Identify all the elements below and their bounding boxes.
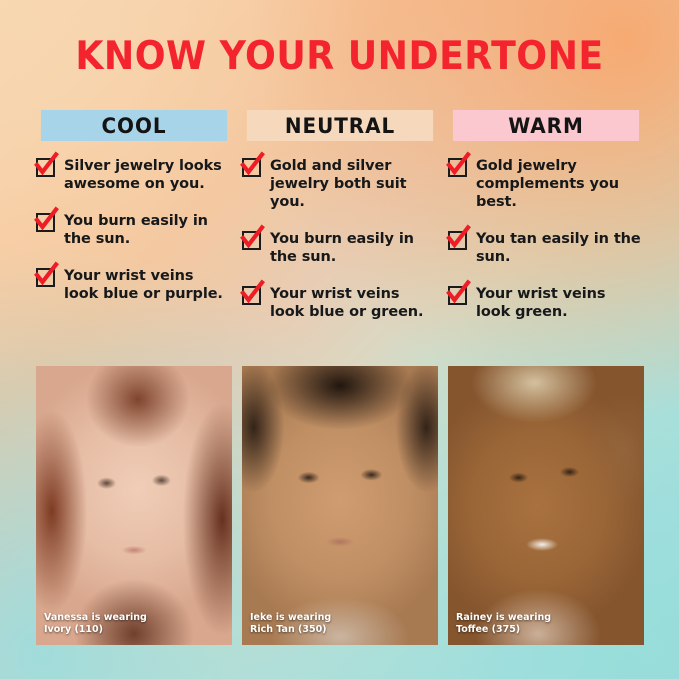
undertone-columns: COOL Silver jewelry looks awesome on you… xyxy=(36,110,644,340)
column-cool: COOL Silver jewelry looks awesome on you… xyxy=(36,110,232,340)
model-photo-warm: Rainey is wearing Toffee (375) xyxy=(448,366,644,645)
list-item: Gold jewelry complements you best. xyxy=(448,157,644,211)
model-photo-neutral: Ieke is wearing Rich Tan (350) xyxy=(242,366,438,645)
undertone-poster: KNOW YOUR UNDERTONE COOL Silver jewelry … xyxy=(0,0,679,679)
checkbox-checked-icon xyxy=(36,158,55,177)
model-photo-cool: Vanessa is wearing Ivory (110) xyxy=(36,366,232,645)
photo-caption-line2: Ivory (110) xyxy=(44,624,147,636)
checkbox-checked-icon xyxy=(448,286,467,305)
list-item-label: Gold jewelry complements you best. xyxy=(476,157,644,211)
checklist-neutral: Gold and silver jewelry both suit you. Y… xyxy=(242,157,438,321)
model-photos: Vanessa is wearing Ivory (110) Ieke is w… xyxy=(36,366,644,645)
list-item-label: Gold and silver jewelry both suit you. xyxy=(270,157,438,211)
photo-caption-line2: Toffee (375) xyxy=(456,624,551,636)
checkbox-checked-icon xyxy=(448,231,467,250)
photo-caption-cool: Vanessa is wearing Ivory (110) xyxy=(44,612,147,635)
list-item-label: Your wrist veins look blue or green. xyxy=(270,285,438,321)
checkbox-checked-icon xyxy=(242,231,261,250)
column-neutral: NEUTRAL Gold and silver jewelry both sui… xyxy=(242,110,438,340)
list-item: You burn easily in the sun. xyxy=(36,212,232,248)
list-item-label: You tan easily in the sun. xyxy=(476,230,644,266)
list-item: Your wrist veins look blue or purple. xyxy=(36,267,232,303)
list-item-label: Your wrist veins look green. xyxy=(476,285,644,321)
photo-caption-line1: Vanessa is wearing xyxy=(44,612,147,624)
checkbox-checked-icon xyxy=(36,268,55,287)
checkbox-checked-icon xyxy=(36,213,55,232)
checkbox-checked-icon xyxy=(242,286,261,305)
checkbox-checked-icon xyxy=(242,158,261,177)
list-item-label: You burn easily in the sun. xyxy=(270,230,438,266)
column-header-cool: COOL xyxy=(41,110,227,141)
column-warm: WARM Gold jewelry complements you best. xyxy=(448,110,644,340)
checkbox-checked-icon xyxy=(448,158,467,177)
photo-caption-line2: Rich Tan (350) xyxy=(250,624,331,636)
list-item: Silver jewelry looks awesome on you. xyxy=(36,157,232,193)
checklist-warm: Gold jewelry complements you best. You t… xyxy=(448,157,644,321)
list-item-label: Your wrist veins look blue or purple. xyxy=(64,267,232,303)
photo-caption-neutral: Ieke is wearing Rich Tan (350) xyxy=(250,612,331,635)
list-item: You tan easily in the sun. xyxy=(448,230,644,266)
column-header-warm: WARM xyxy=(453,110,639,141)
list-item: Gold and silver jewelry both suit you. xyxy=(242,157,438,211)
list-item: You burn easily in the sun. xyxy=(242,230,438,266)
page-title: KNOW YOUR UNDERTONE xyxy=(24,34,655,79)
photo-caption-line1: Ieke is wearing xyxy=(250,612,331,624)
column-header-neutral: NEUTRAL xyxy=(247,110,433,141)
list-item-label: You burn easily in the sun. xyxy=(64,212,232,248)
list-item-label: Silver jewelry looks awesome on you. xyxy=(64,157,232,193)
list-item: Your wrist veins look blue or green. xyxy=(242,285,438,321)
photo-caption-warm: Rainey is wearing Toffee (375) xyxy=(456,612,551,635)
photo-caption-line1: Rainey is wearing xyxy=(456,612,551,624)
list-item: Your wrist veins look green. xyxy=(448,285,644,321)
checklist-cool: Silver jewelry looks awesome on you. You… xyxy=(36,157,232,303)
